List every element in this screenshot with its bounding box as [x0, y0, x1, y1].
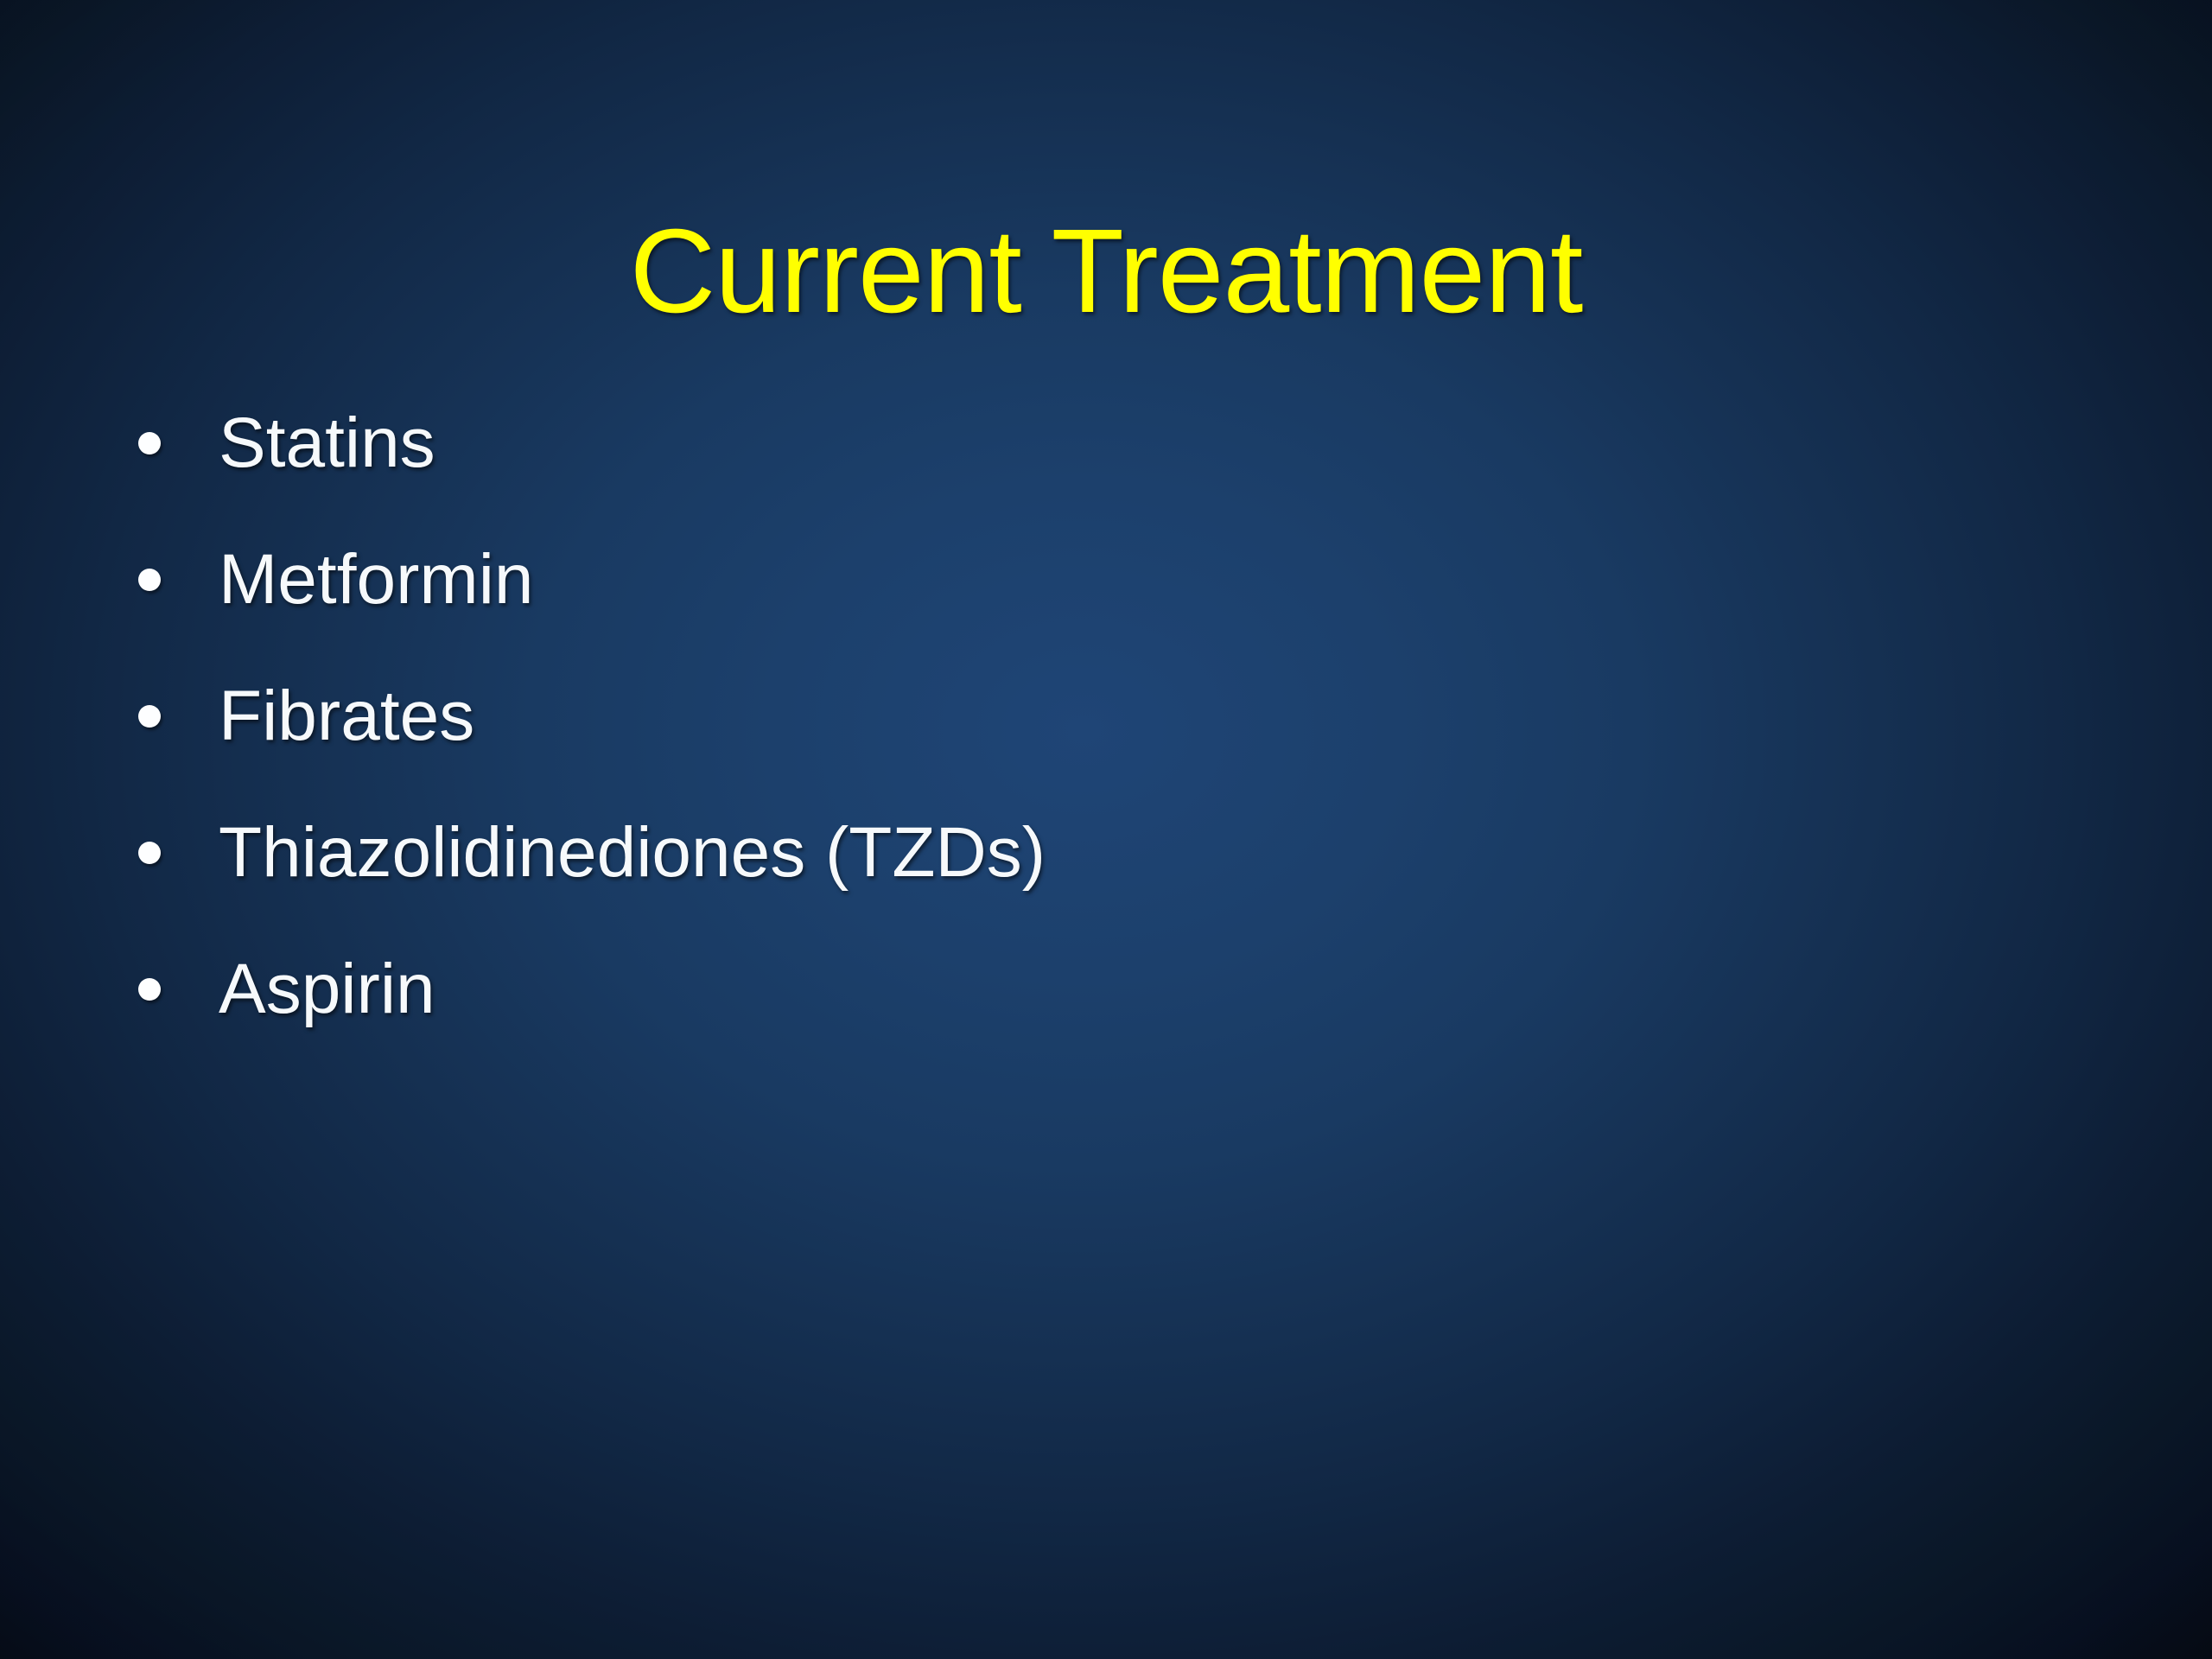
- list-item-label: Metformin: [219, 537, 2031, 623]
- bullet-point-icon: [130, 810, 219, 896]
- presentation-slide: Current Treatment Statins Metformin Fibr…: [0, 0, 2212, 1659]
- bullet-point-icon: [130, 673, 219, 760]
- list-item-label: Thiazolidinediones (TZDs): [219, 810, 2031, 896]
- list-item[interactable]: Fibrates: [130, 673, 2031, 810]
- list-item-label: Statins: [219, 400, 2031, 486]
- list-item-label: Aspirin: [219, 946, 2031, 1033]
- list-item-label: Fibrates: [219, 673, 2031, 760]
- bullet-point-icon: [130, 537, 219, 623]
- list-item[interactable]: Thiazolidinediones (TZDs): [130, 810, 2031, 946]
- slide-title: Current Treatment: [0, 209, 2212, 334]
- list-item[interactable]: Aspirin: [130, 946, 2031, 1083]
- slide-content-layer: Current Treatment Statins Metformin Fibr…: [0, 0, 2212, 1659]
- bullet-point-icon: [130, 400, 219, 486]
- list-item[interactable]: Statins: [130, 400, 2031, 537]
- list-item[interactable]: Metformin: [130, 537, 2031, 673]
- bullet-point-icon: [130, 946, 219, 1033]
- bullet-list: Statins Metformin Fibrates Thiazolidined…: [130, 400, 2031, 1083]
